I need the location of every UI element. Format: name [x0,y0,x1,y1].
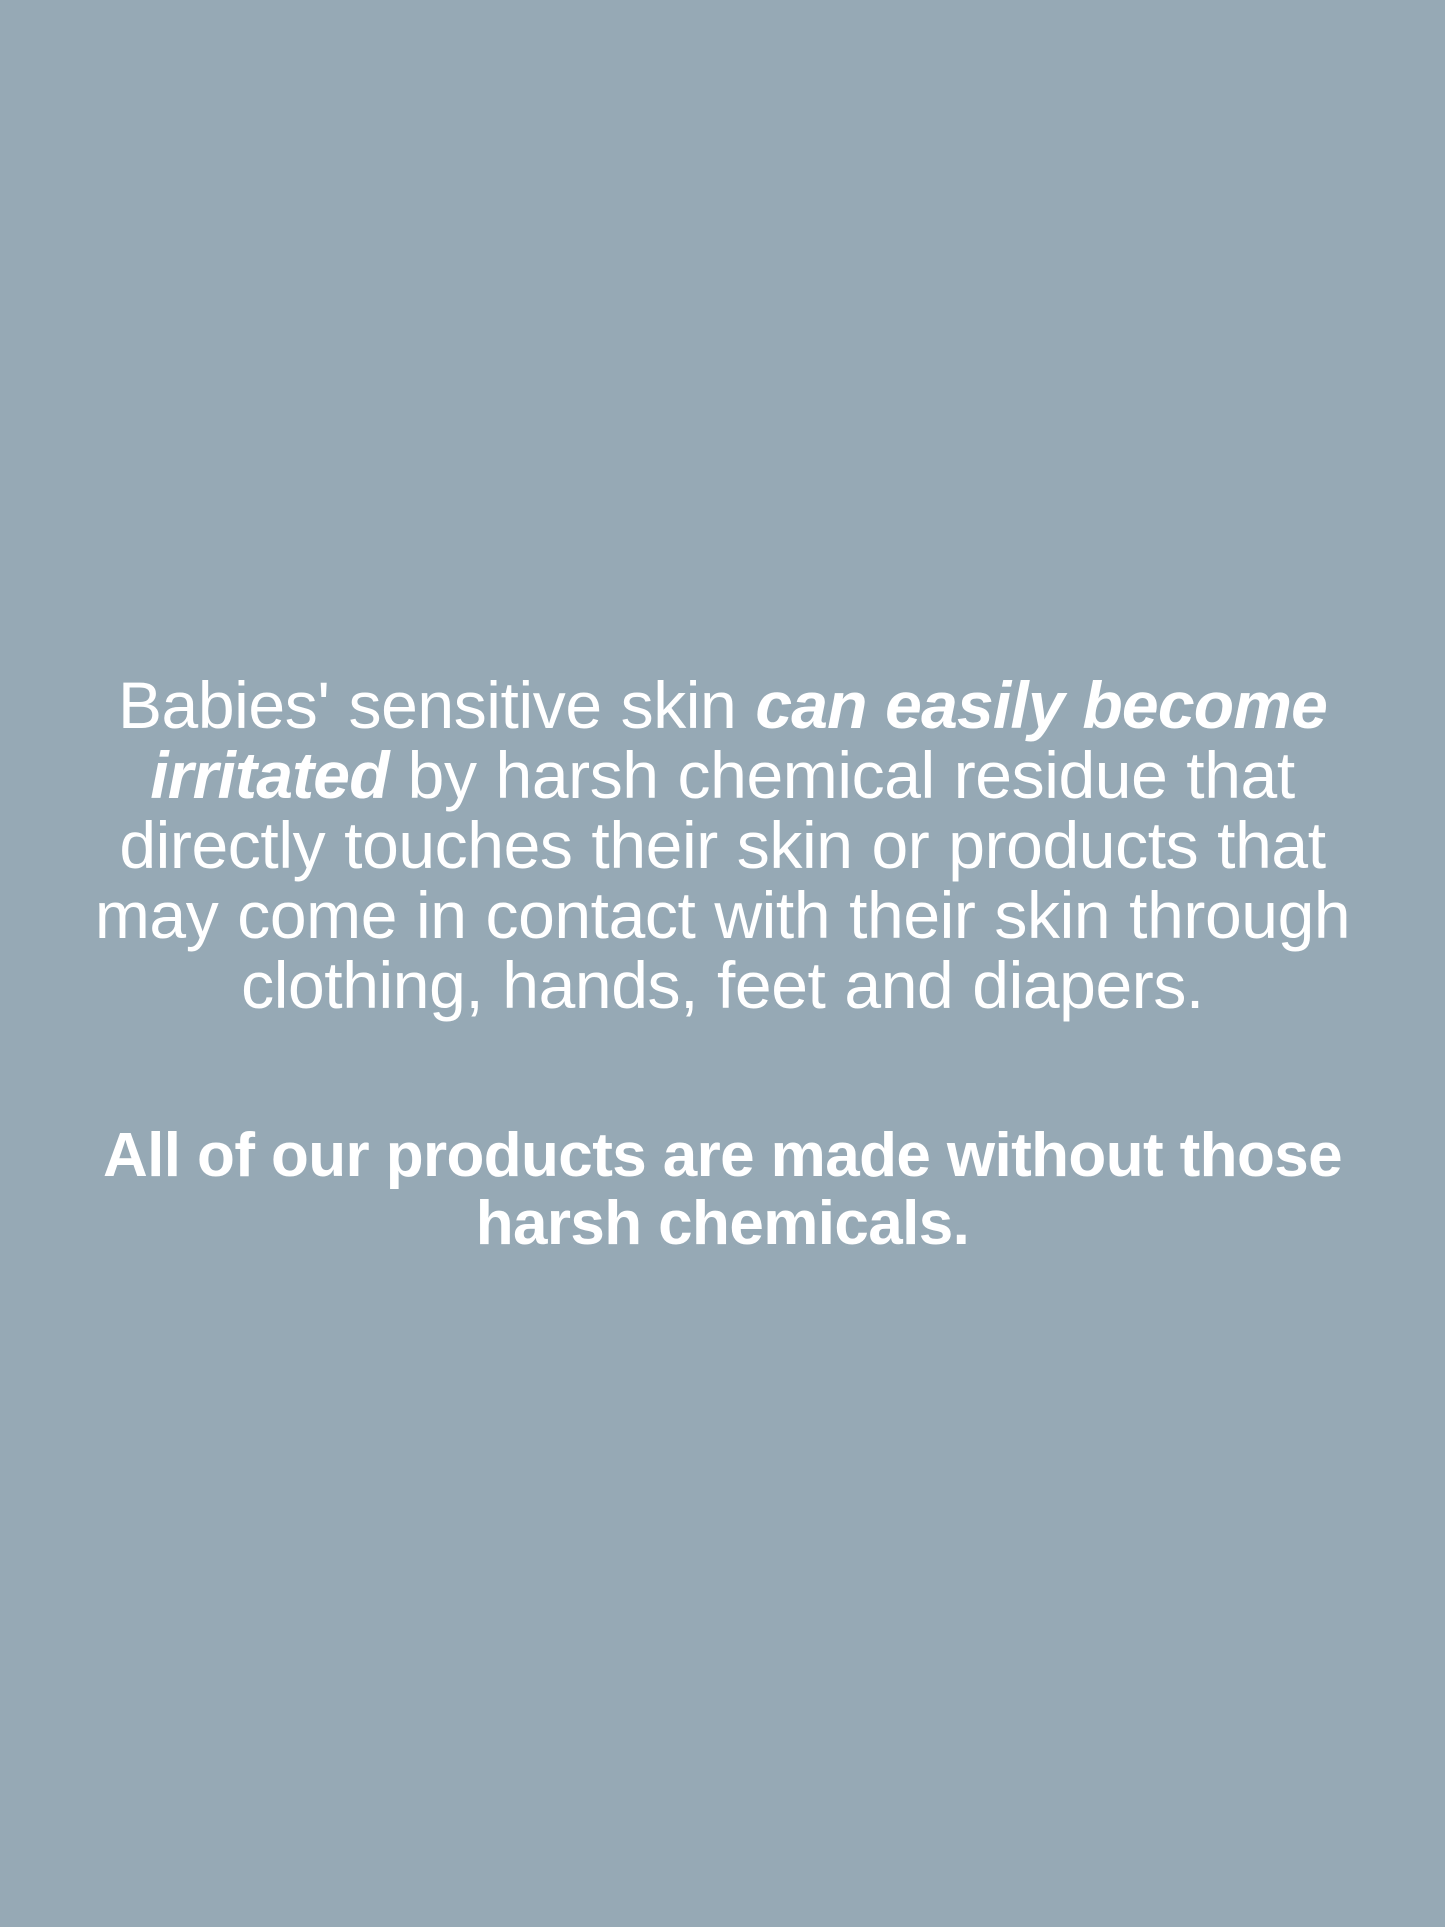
statement-text-block: Babies' sensitive skin can easily become… [78,670,1368,1258]
paragraph-spacer [78,1020,1368,1122]
paragraph-lead-text: Babies' sensitive skin [118,668,755,742]
sensitive-skin-paragraph: Babies' sensitive skin can easily become… [78,670,1368,1020]
promo-text-canvas: Babies' sensitive skin can easily become… [0,0,1445,1927]
no-harsh-chemicals-claim: All of our products are made without tho… [78,1122,1368,1258]
